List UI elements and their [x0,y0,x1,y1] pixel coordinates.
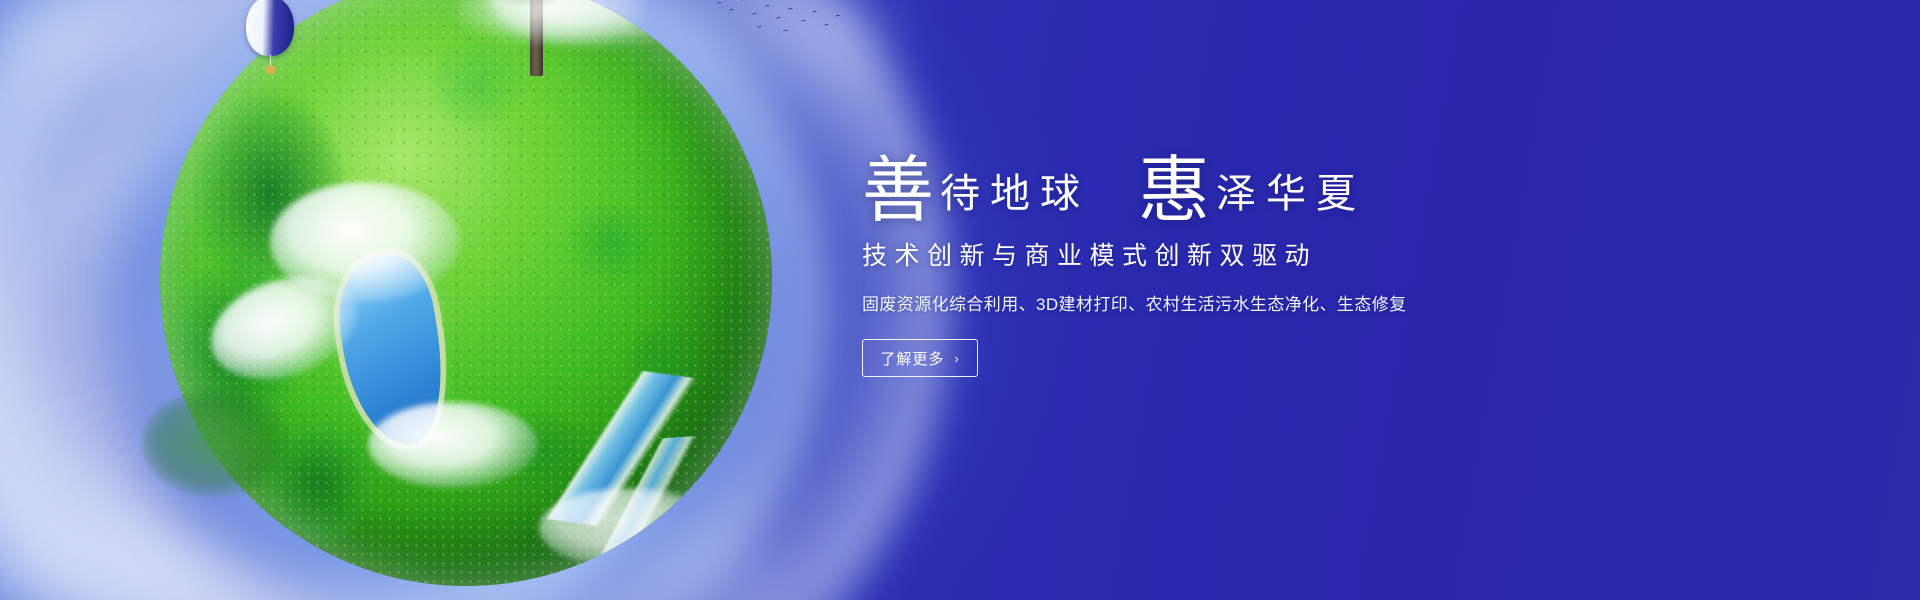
headline-char-hui: 惠 [1138,154,1210,226]
tree-mist [456,0,646,44]
chevron-right-icon: › [954,351,959,366]
learn-more-label: 了解更多 [880,348,944,369]
balloon-basket [266,66,275,74]
hero-text-block: 善 待地球 惠 泽华夏 技术创新与商业模式创新双驱动 固废资源化综合利用、3D建… [862,128,1762,377]
balloon-envelope [246,0,294,56]
birds-icon [713,0,853,42]
globe-illustration [138,0,818,600]
hero-subtitle: 技术创新与商业模式创新双驱动 [862,236,1762,272]
planet-rim-light [160,0,772,586]
hero-banner: 善 待地球 惠 泽华夏 技术创新与商业模式创新双驱动 固废资源化综合利用、3D建… [0,0,1920,600]
foreground-foliage [142,388,292,498]
headline-text-zehuaxia: 泽华夏 [1216,174,1366,214]
tree-icon [434,0,644,72]
hero-description: 固废资源化综合利用、3D建材打印、农村生活污水生态净化、生态修复 [862,290,1762,315]
headline-text-daidiqiu: 待地球 [940,174,1090,214]
headline-char-shan: 善 [862,154,934,226]
green-planet-icon [160,0,772,586]
hot-air-balloon-icon [246,0,298,80]
learn-more-button[interactable]: 了解更多 › [862,339,978,377]
page-title: 善 待地球 惠 泽华夏 [862,128,1762,220]
